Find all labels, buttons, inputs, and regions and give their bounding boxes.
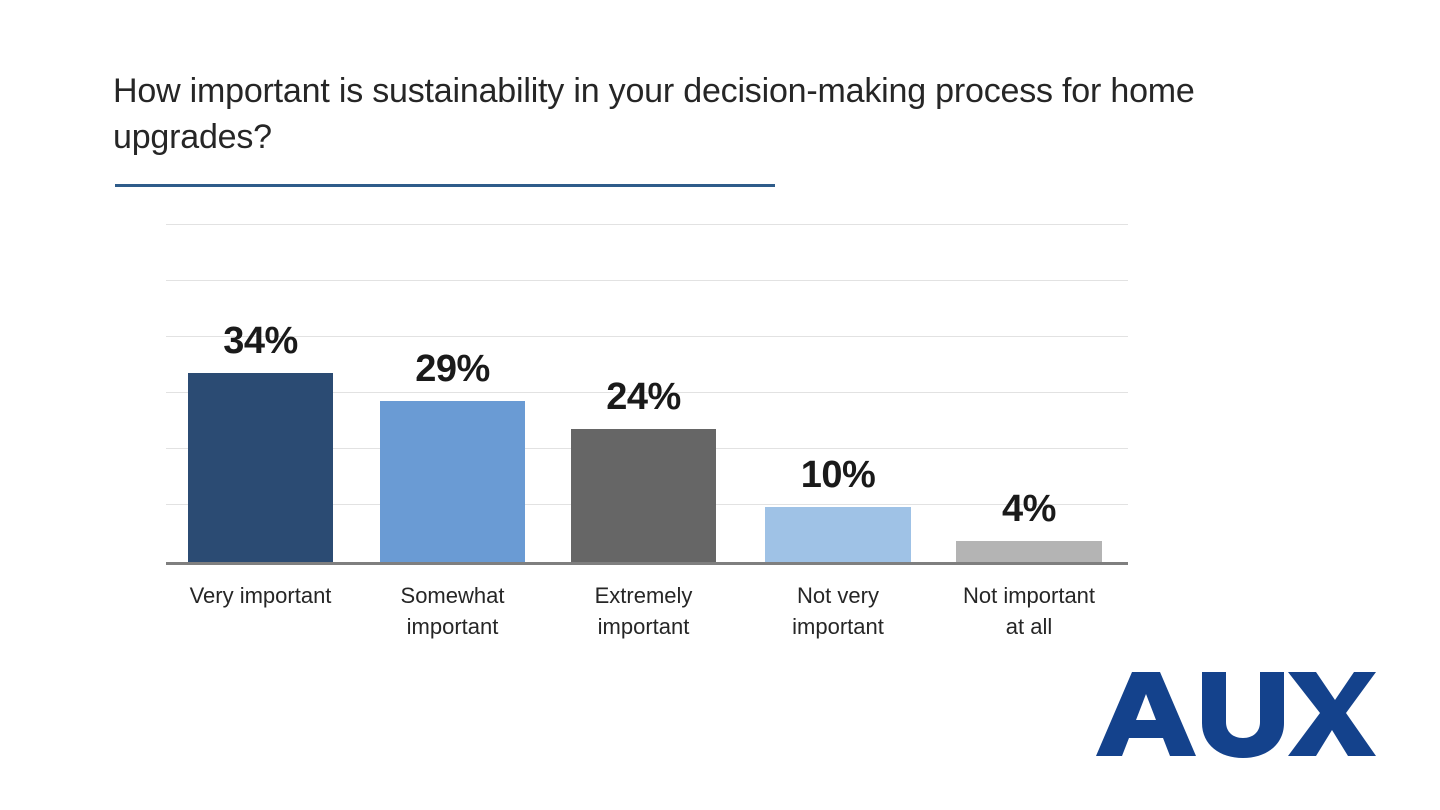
bar — [956, 541, 1102, 563]
aux-logo — [1088, 668, 1376, 760]
bar — [188, 373, 333, 563]
category-label: Not very important — [739, 580, 937, 642]
page-title: How important is sustainability in your … — [113, 68, 1303, 160]
bar-value-label: 4% — [956, 488, 1102, 531]
bar-value-label: 29% — [380, 348, 525, 391]
bar-value-label: 10% — [765, 454, 911, 497]
gridline — [166, 224, 1128, 225]
title-block: How important is sustainability in your … — [113, 68, 1313, 160]
category-label: Extremely important — [545, 580, 742, 642]
bar-value-label: 24% — [571, 376, 716, 419]
gridline — [166, 280, 1128, 281]
axis-baseline — [166, 562, 1128, 565]
bar — [765, 507, 911, 563]
bar — [571, 429, 716, 563]
category-label: Not important at all — [930, 580, 1128, 642]
title-accent-rule — [115, 184, 775, 187]
bar — [380, 401, 525, 563]
bar-value-label: 34% — [188, 320, 333, 363]
category-label: Very important — [162, 580, 359, 611]
category-label: Somewhat important — [354, 580, 551, 642]
